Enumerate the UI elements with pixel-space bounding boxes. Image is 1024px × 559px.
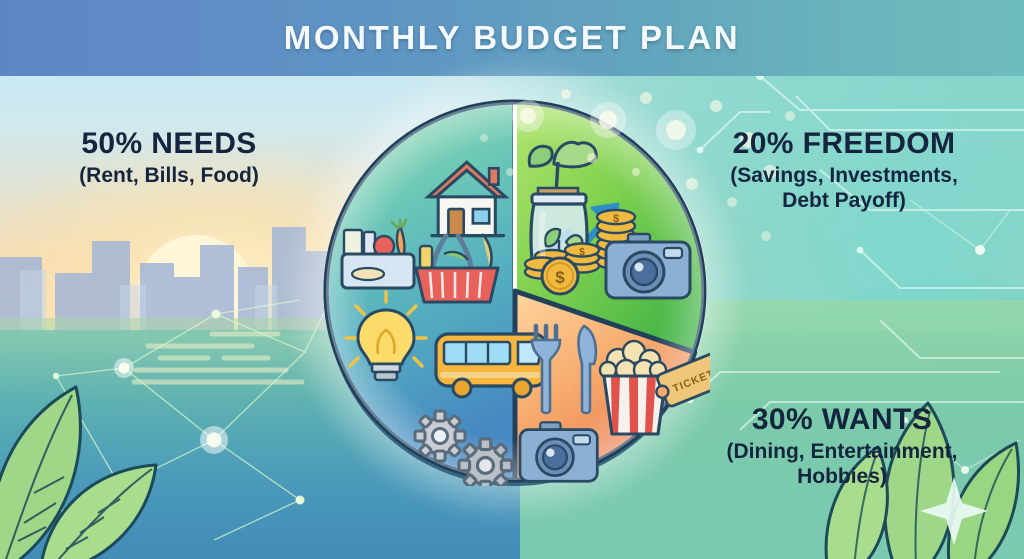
gears-icon <box>415 411 512 486</box>
wants-headline: 30% WANTS <box>664 404 1020 436</box>
wants-detail-line2: Hobbies) <box>664 465 1020 490</box>
camera-icon <box>520 422 597 481</box>
fork-knife-icon <box>532 326 596 413</box>
label-wants: 30% WANTS (Dining, Entertainment, Hobbie… <box>664 404 1020 489</box>
needs-headline: 50% NEEDS <box>14 128 324 160</box>
freedom-headline: 20% FREEDOM <box>672 128 1016 160</box>
leaf-decoration-left <box>0 373 210 559</box>
groceries-box-icon <box>342 220 414 288</box>
bus-icon <box>436 334 546 397</box>
wants-detail-line1: (Dining, Entertainment, <box>664 440 1020 465</box>
label-freedom: 20% FREEDOM (Savings, Investments, Debt … <box>672 128 1016 213</box>
freedom-detail-line2: Debt Payoff) <box>672 189 1016 214</box>
freedom-detail-line1: (Savings, Investments, <box>672 164 1016 189</box>
lightbulb-icon <box>346 292 426 380</box>
label-needs: 50% NEEDS (Rent, Bills, Food) <box>14 128 324 189</box>
infographic-canvas: MONTHLY BUDGET PLAN <box>0 0 1024 559</box>
needs-detail: (Rent, Bills, Food) <box>14 164 324 189</box>
popcorn-icon <box>600 341 666 434</box>
